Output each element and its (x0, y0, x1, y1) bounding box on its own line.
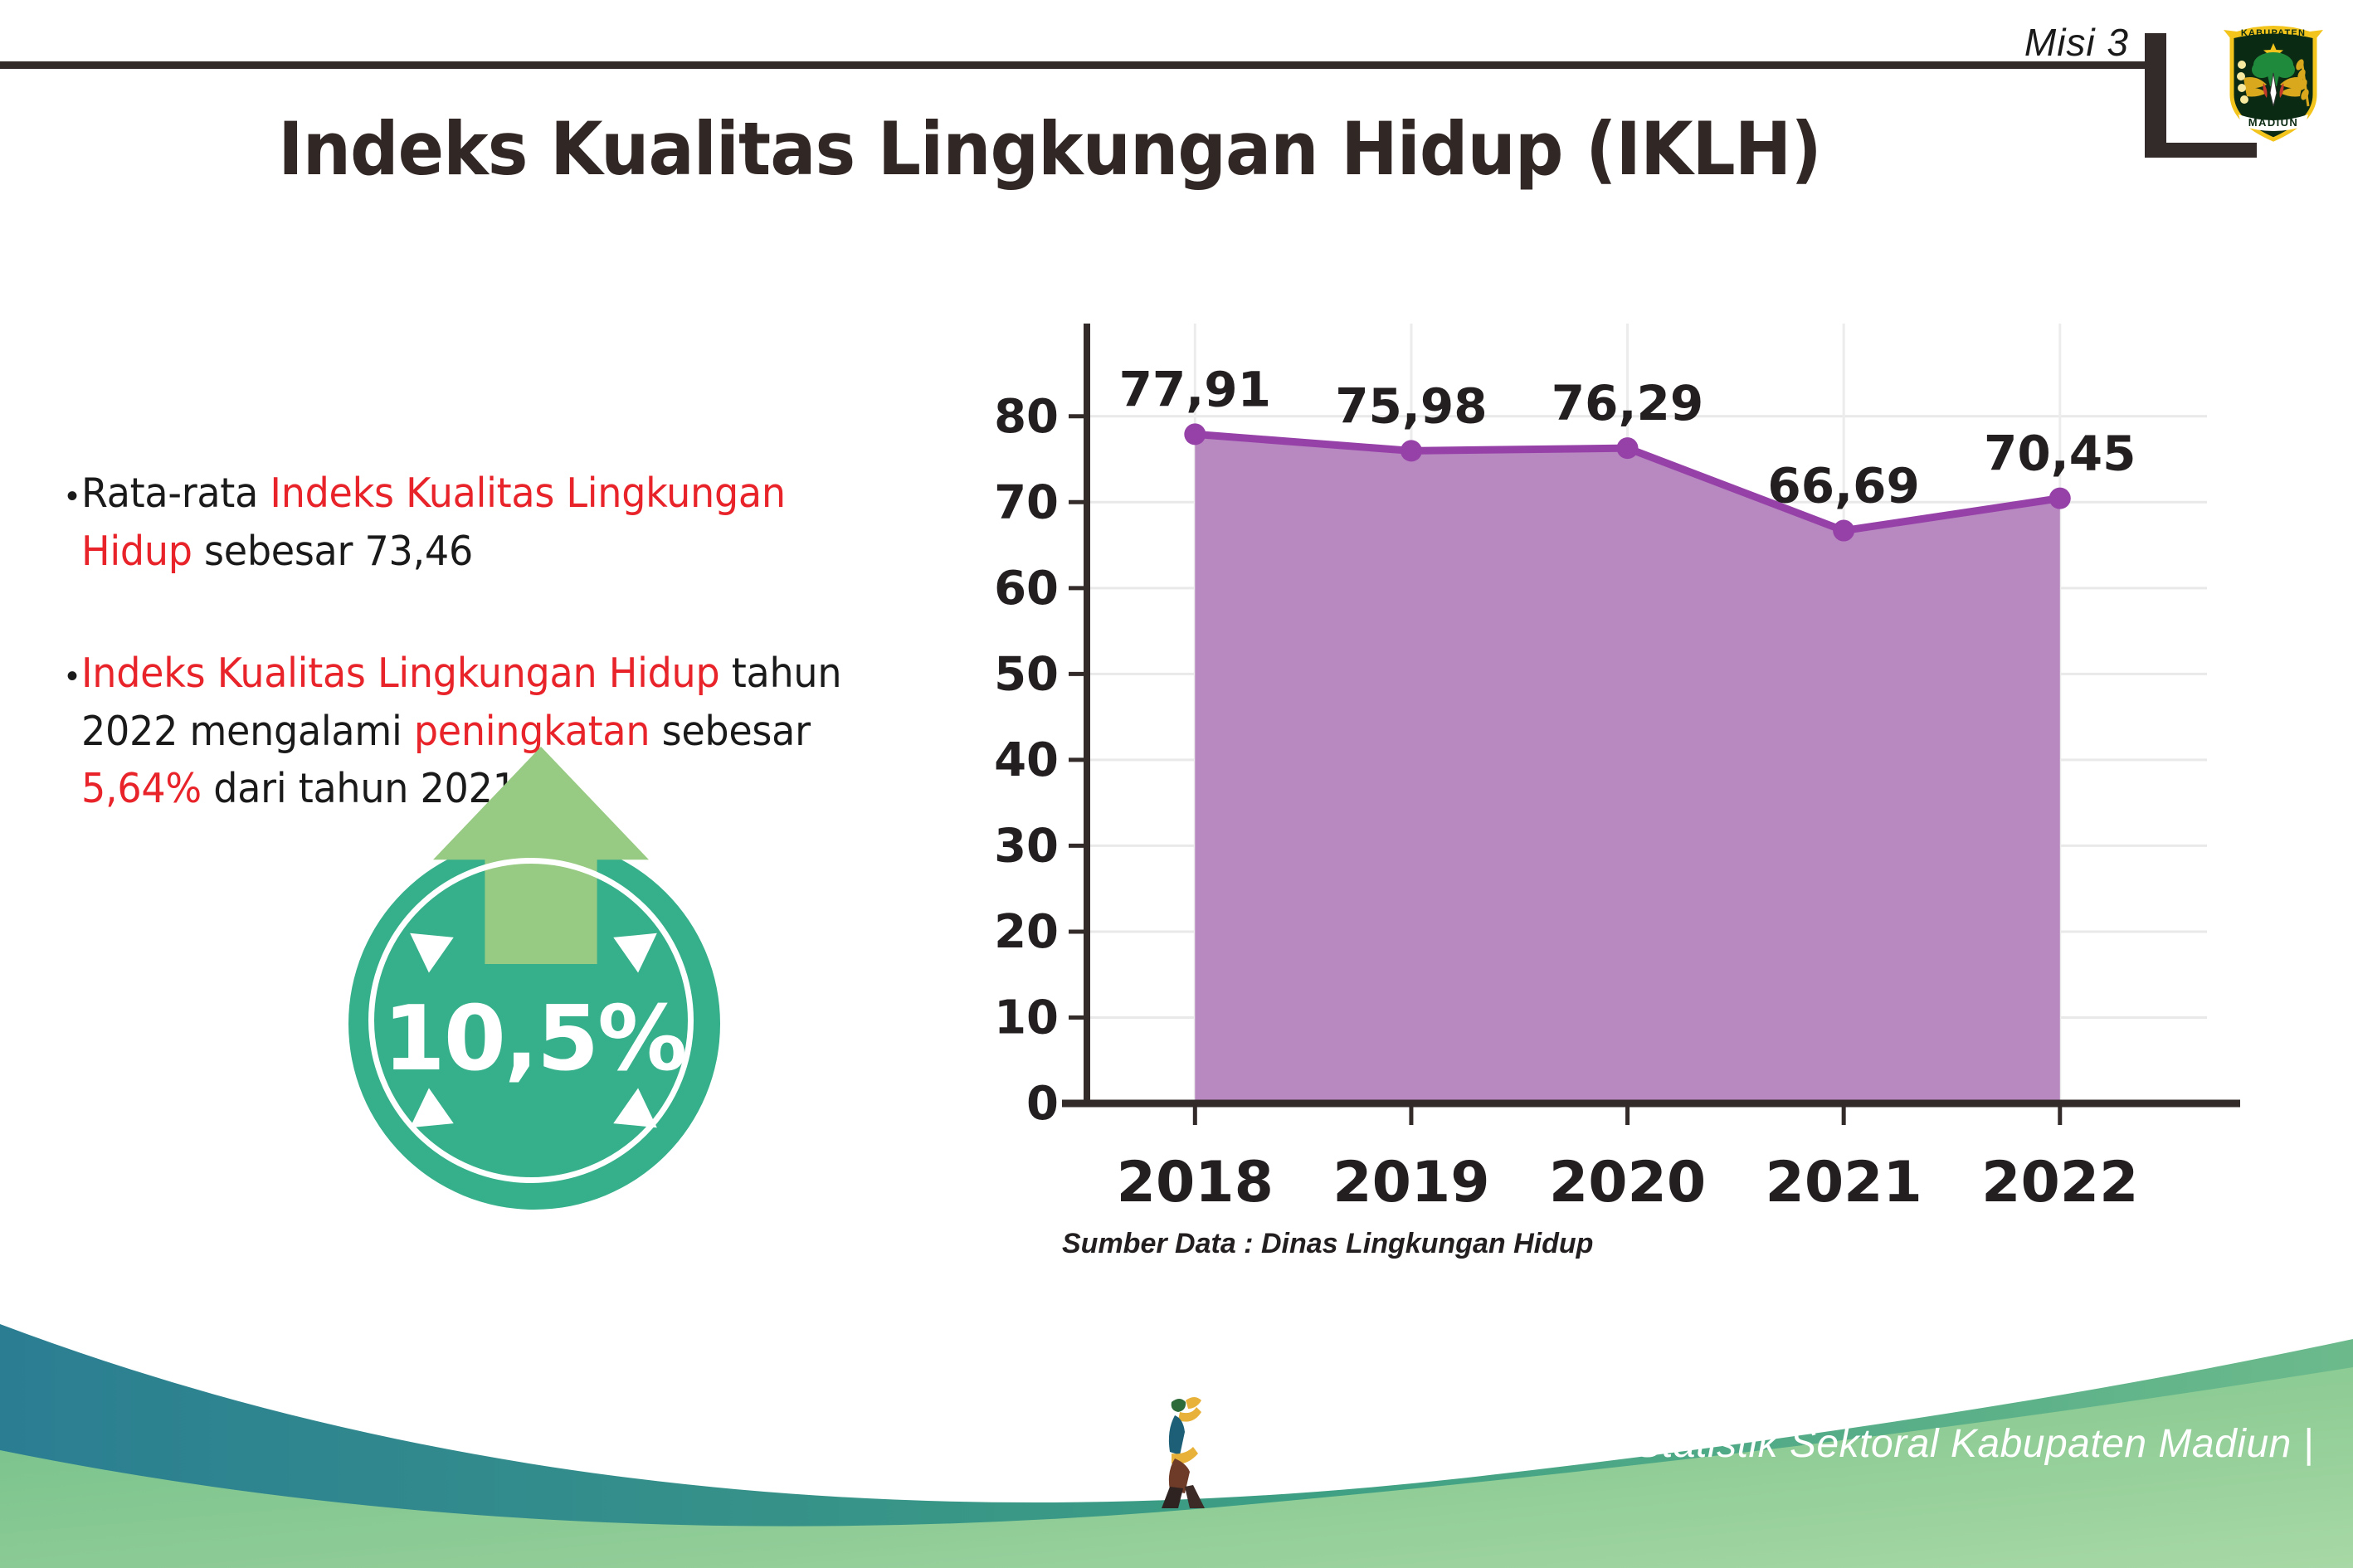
svg-text:2022: 2022 (1981, 1150, 2138, 1215)
plain-phrase: sebesar 73,46 (192, 528, 473, 575)
statistik-figure-logo-icon (1147, 1387, 1238, 1512)
chart-canvas: 01020304050607080 20182019202020212022 7… (962, 299, 2257, 1278)
growth-badge: 10,5% (324, 747, 755, 1211)
page-title: Indeks Kualitas Lingkungan Hidup (IKLH) (74, 106, 2026, 192)
svg-text:2018: 2018 (1117, 1150, 1274, 1215)
badge-value-label: 10,5% (324, 987, 745, 1091)
bullet-text-1: Rata-rata Indeks Kualitas Lingkungan Hid… (81, 465, 894, 580)
list-item: • Rata-rata Indeks Kualitas Lingkungan H… (66, 465, 946, 580)
svg-text:70,45: 70,45 (1984, 426, 2136, 482)
svg-text:50: 50 (994, 647, 1059, 701)
svg-text:10: 10 (994, 991, 1059, 1045)
highlighted-phrase: 5,64% (81, 765, 202, 812)
svg-text:76,29: 76,29 (1552, 375, 1703, 431)
misi-label: Misi 3 (2024, 20, 2129, 65)
header-divider-line (0, 61, 2145, 69)
footer-caption: Media Infografis Data Statistik Sektoral… (1236, 1421, 2314, 1467)
svg-text:77,91: 77,91 (1119, 361, 1271, 417)
svg-text:2020: 2020 (1549, 1150, 1706, 1215)
chart-area-series (1195, 434, 2059, 1103)
svg-text:75,98: 75,98 (1335, 377, 1487, 434)
plain-phrase: Rata-rata (81, 470, 270, 517)
svg-text:2021: 2021 (1766, 1150, 1922, 1215)
chart-x-axis-labels: 20182019202020212022 (1117, 1150, 2139, 1215)
svg-text:66,69: 66,69 (1767, 458, 1919, 514)
logo-top-text: KABUPATEN (2241, 28, 2306, 38)
svg-text:80: 80 (994, 390, 1059, 444)
chart-y-axis-labels: 01020304050607080 (994, 390, 1059, 1131)
header-bracket-vertical (2145, 33, 2166, 158)
svg-text:40: 40 (994, 733, 1059, 787)
svg-text:30: 30 (994, 819, 1059, 873)
iklh-area-chart: 01020304050607080 20182019202020212022 7… (962, 299, 2257, 1278)
footer: Media Infografis Data Statistik Sektoral… (0, 1294, 2353, 1568)
svg-text:2019: 2019 (1332, 1150, 1489, 1215)
kabupaten-madiun-emblem-icon: MADIUN KABUPATEN (2215, 13, 2331, 146)
svg-text:0: 0 (1026, 1077, 1059, 1131)
svg-text:20: 20 (994, 905, 1059, 959)
chart-source-note: Sumber Data : Dinas Lingkungan Hidup (1062, 1228, 1593, 1260)
bullet-dot-icon: • (66, 465, 78, 513)
svg-text:60: 60 (994, 562, 1059, 616)
highlighted-phrase: Indeks Kualitas Lingkungan Hidup (81, 650, 719, 697)
bullet-dot-icon: • (66, 645, 78, 693)
svg-text:70: 70 (994, 475, 1059, 529)
logo-bottom-text: MADIUN (2248, 116, 2298, 129)
